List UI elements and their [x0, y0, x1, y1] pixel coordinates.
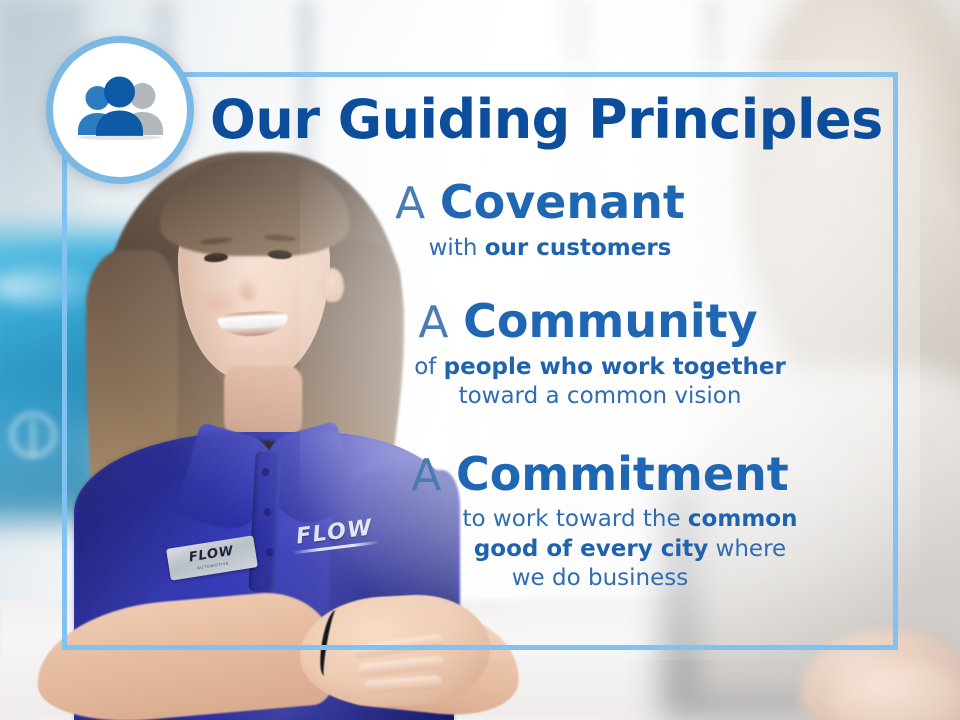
principle-subtext-line: of people who work together: [300, 353, 900, 382]
principle-subtext-line: to work toward the common: [300, 505, 900, 534]
principle-keyword: Commitment: [456, 447, 789, 501]
subtext-segment: of: [414, 354, 443, 380]
principle-keyword: Community: [463, 294, 757, 348]
subtext-segment: we do business: [512, 565, 689, 591]
principle-subtext-line: toward a common vision: [300, 382, 900, 411]
people-group-icon: [71, 74, 169, 146]
page-title: Our Guiding Principles: [210, 92, 870, 149]
principle-covenant: A Covenant with our customers: [300, 178, 900, 263]
subtext-segment: to work toward the: [463, 506, 688, 532]
principle-keyword: Covenant: [440, 175, 685, 229]
principle-subtext-line: we do business: [300, 564, 900, 593]
principle-commitment: A Commitment to work toward the common g…: [300, 450, 900, 594]
subtext-segment-bold: people who work together: [444, 354, 786, 380]
employee-nose: [238, 276, 260, 302]
principle-article: A: [411, 450, 441, 501]
subtext-segment-bold: good of every city: [474, 536, 708, 562]
people-group-icon-badge: [46, 36, 194, 184]
principle-community: A Community of people who work together …: [300, 297, 900, 412]
guiding-principles-graphic: FLOW AUTOMOTIVE FLOW: [0, 0, 960, 720]
subtext-segment: with: [429, 235, 485, 261]
principle-title: A Covenant: [300, 178, 900, 228]
principle-article: A: [395, 178, 425, 229]
subtext-segment-bold: our customers: [485, 235, 672, 261]
principle-subtext-line: good of every city where: [300, 535, 900, 564]
customer-hand: [830, 660, 960, 720]
principle-subtext-line: with our customers: [300, 234, 900, 263]
principle-title: A Commitment: [300, 450, 900, 500]
principle-article: A: [418, 297, 448, 348]
subtext-segment-bold: common: [688, 506, 798, 532]
principles-list: A Covenant with our customers A Communit…: [300, 178, 900, 616]
principle-title: A Community: [300, 297, 900, 347]
subtext-segment: where: [708, 536, 786, 562]
subtext-segment: toward a common vision: [459, 383, 742, 409]
